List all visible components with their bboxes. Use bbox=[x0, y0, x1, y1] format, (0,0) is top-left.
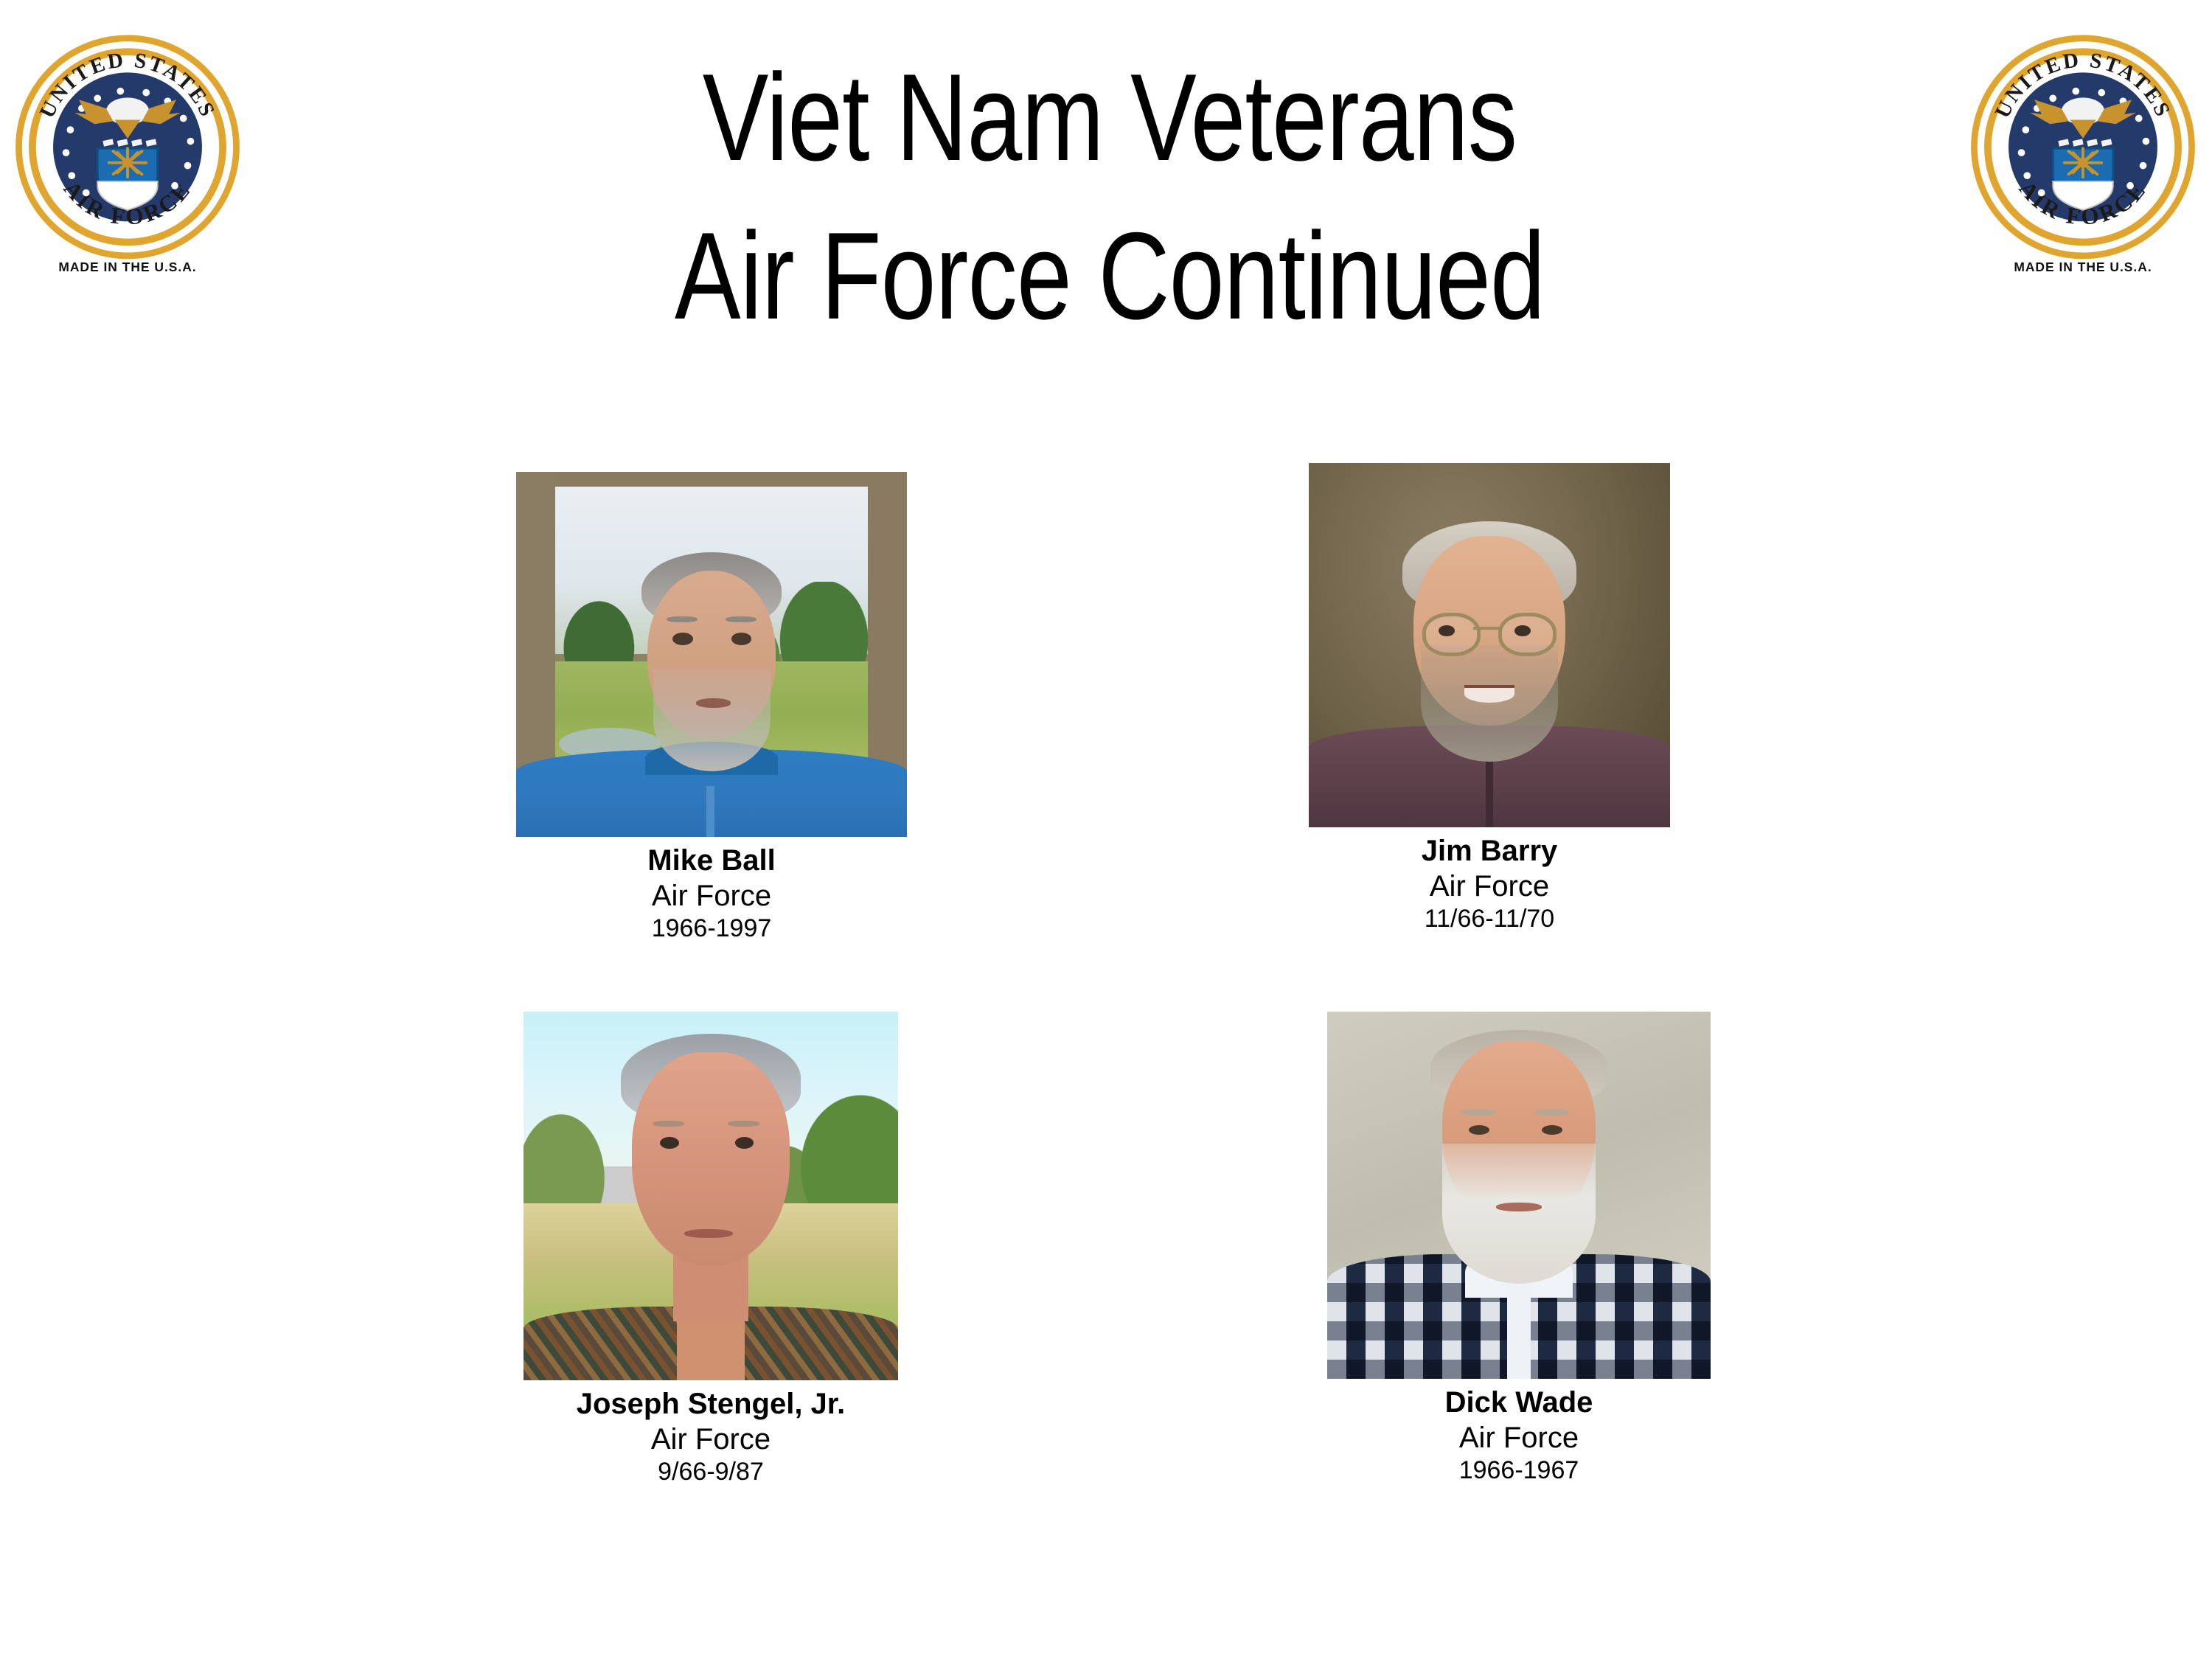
veteran-years: 9/66-9/87 bbox=[524, 1457, 898, 1487]
veteran-name: Mike Ball bbox=[516, 844, 907, 878]
veteran-name: Jim Barry bbox=[1309, 834, 1670, 869]
air-force-seal-logo-left: UNITED STATES AIR FORCE bbox=[6, 34, 249, 277]
veteran-years: 11/66-11/70 bbox=[1309, 904, 1670, 934]
title-line-1: Viet Nam Veterans bbox=[635, 38, 1585, 197]
veteran-card-dick-wade: Dick Wade Air Force 1966-1967 bbox=[1327, 1012, 1711, 1486]
slide-title: Viet Nam Veterans Air Force Continued bbox=[635, 38, 1585, 355]
veteran-caption-mike-ball: Mike Ball Air Force 1966-1997 bbox=[516, 844, 907, 944]
veteran-years: 1966-1967 bbox=[1327, 1455, 1711, 1486]
us-air-force-seal-icon: UNITED STATES AIR FORCE bbox=[1974, 38, 2191, 274]
veteran-photo-jim-barry bbox=[1309, 463, 1670, 827]
veteran-card-jim-barry: Jim Barry Air Force 11/66-11/70 bbox=[1309, 463, 1670, 934]
title-line-2: Air Force Continued bbox=[635, 197, 1585, 355]
svg-text:MADE IN THE U.S.A.: MADE IN THE U.S.A. bbox=[2014, 260, 2152, 274]
veteran-photo-joseph-stengel-jr bbox=[524, 1012, 898, 1380]
veteran-name: Joseph Stengel, Jr. bbox=[524, 1387, 898, 1422]
air-force-seal-logo-right: UNITED STATES AIR FORCE bbox=[1961, 34, 2205, 277]
veteran-caption-joseph-stengel-jr: Joseph Stengel, Jr. Air Force 9/66-9/87 bbox=[524, 1387, 898, 1487]
veteran-card-joseph-stengel-jr: Joseph Stengel, Jr. Air Force 9/66-9/87 bbox=[524, 1012, 898, 1487]
veteran-branch: Air Force bbox=[524, 1422, 898, 1457]
veteran-years: 1966-1997 bbox=[516, 914, 907, 944]
slide-canvas: UNITED STATES AIR FORCE bbox=[0, 0, 2212, 1659]
veteran-branch: Air Force bbox=[1309, 869, 1670, 904]
veteran-name: Dick Wade bbox=[1327, 1385, 1711, 1420]
veteran-card-mike-ball: Mike Ball Air Force 1966-1997 bbox=[516, 472, 907, 944]
veteran-branch: Air Force bbox=[1327, 1420, 1711, 1455]
veteran-photo-mike-ball bbox=[516, 472, 907, 837]
veteran-caption-dick-wade: Dick Wade Air Force 1966-1967 bbox=[1327, 1385, 1711, 1486]
svg-text:MADE IN THE U.S.A.: MADE IN THE U.S.A. bbox=[58, 260, 196, 274]
veteran-branch: Air Force bbox=[516, 878, 907, 914]
veteran-caption-jim-barry: Jim Barry Air Force 11/66-11/70 bbox=[1309, 834, 1670, 934]
us-air-force-seal-icon: UNITED STATES AIR FORCE bbox=[18, 38, 236, 274]
veteran-photo-dick-wade bbox=[1327, 1012, 1711, 1379]
